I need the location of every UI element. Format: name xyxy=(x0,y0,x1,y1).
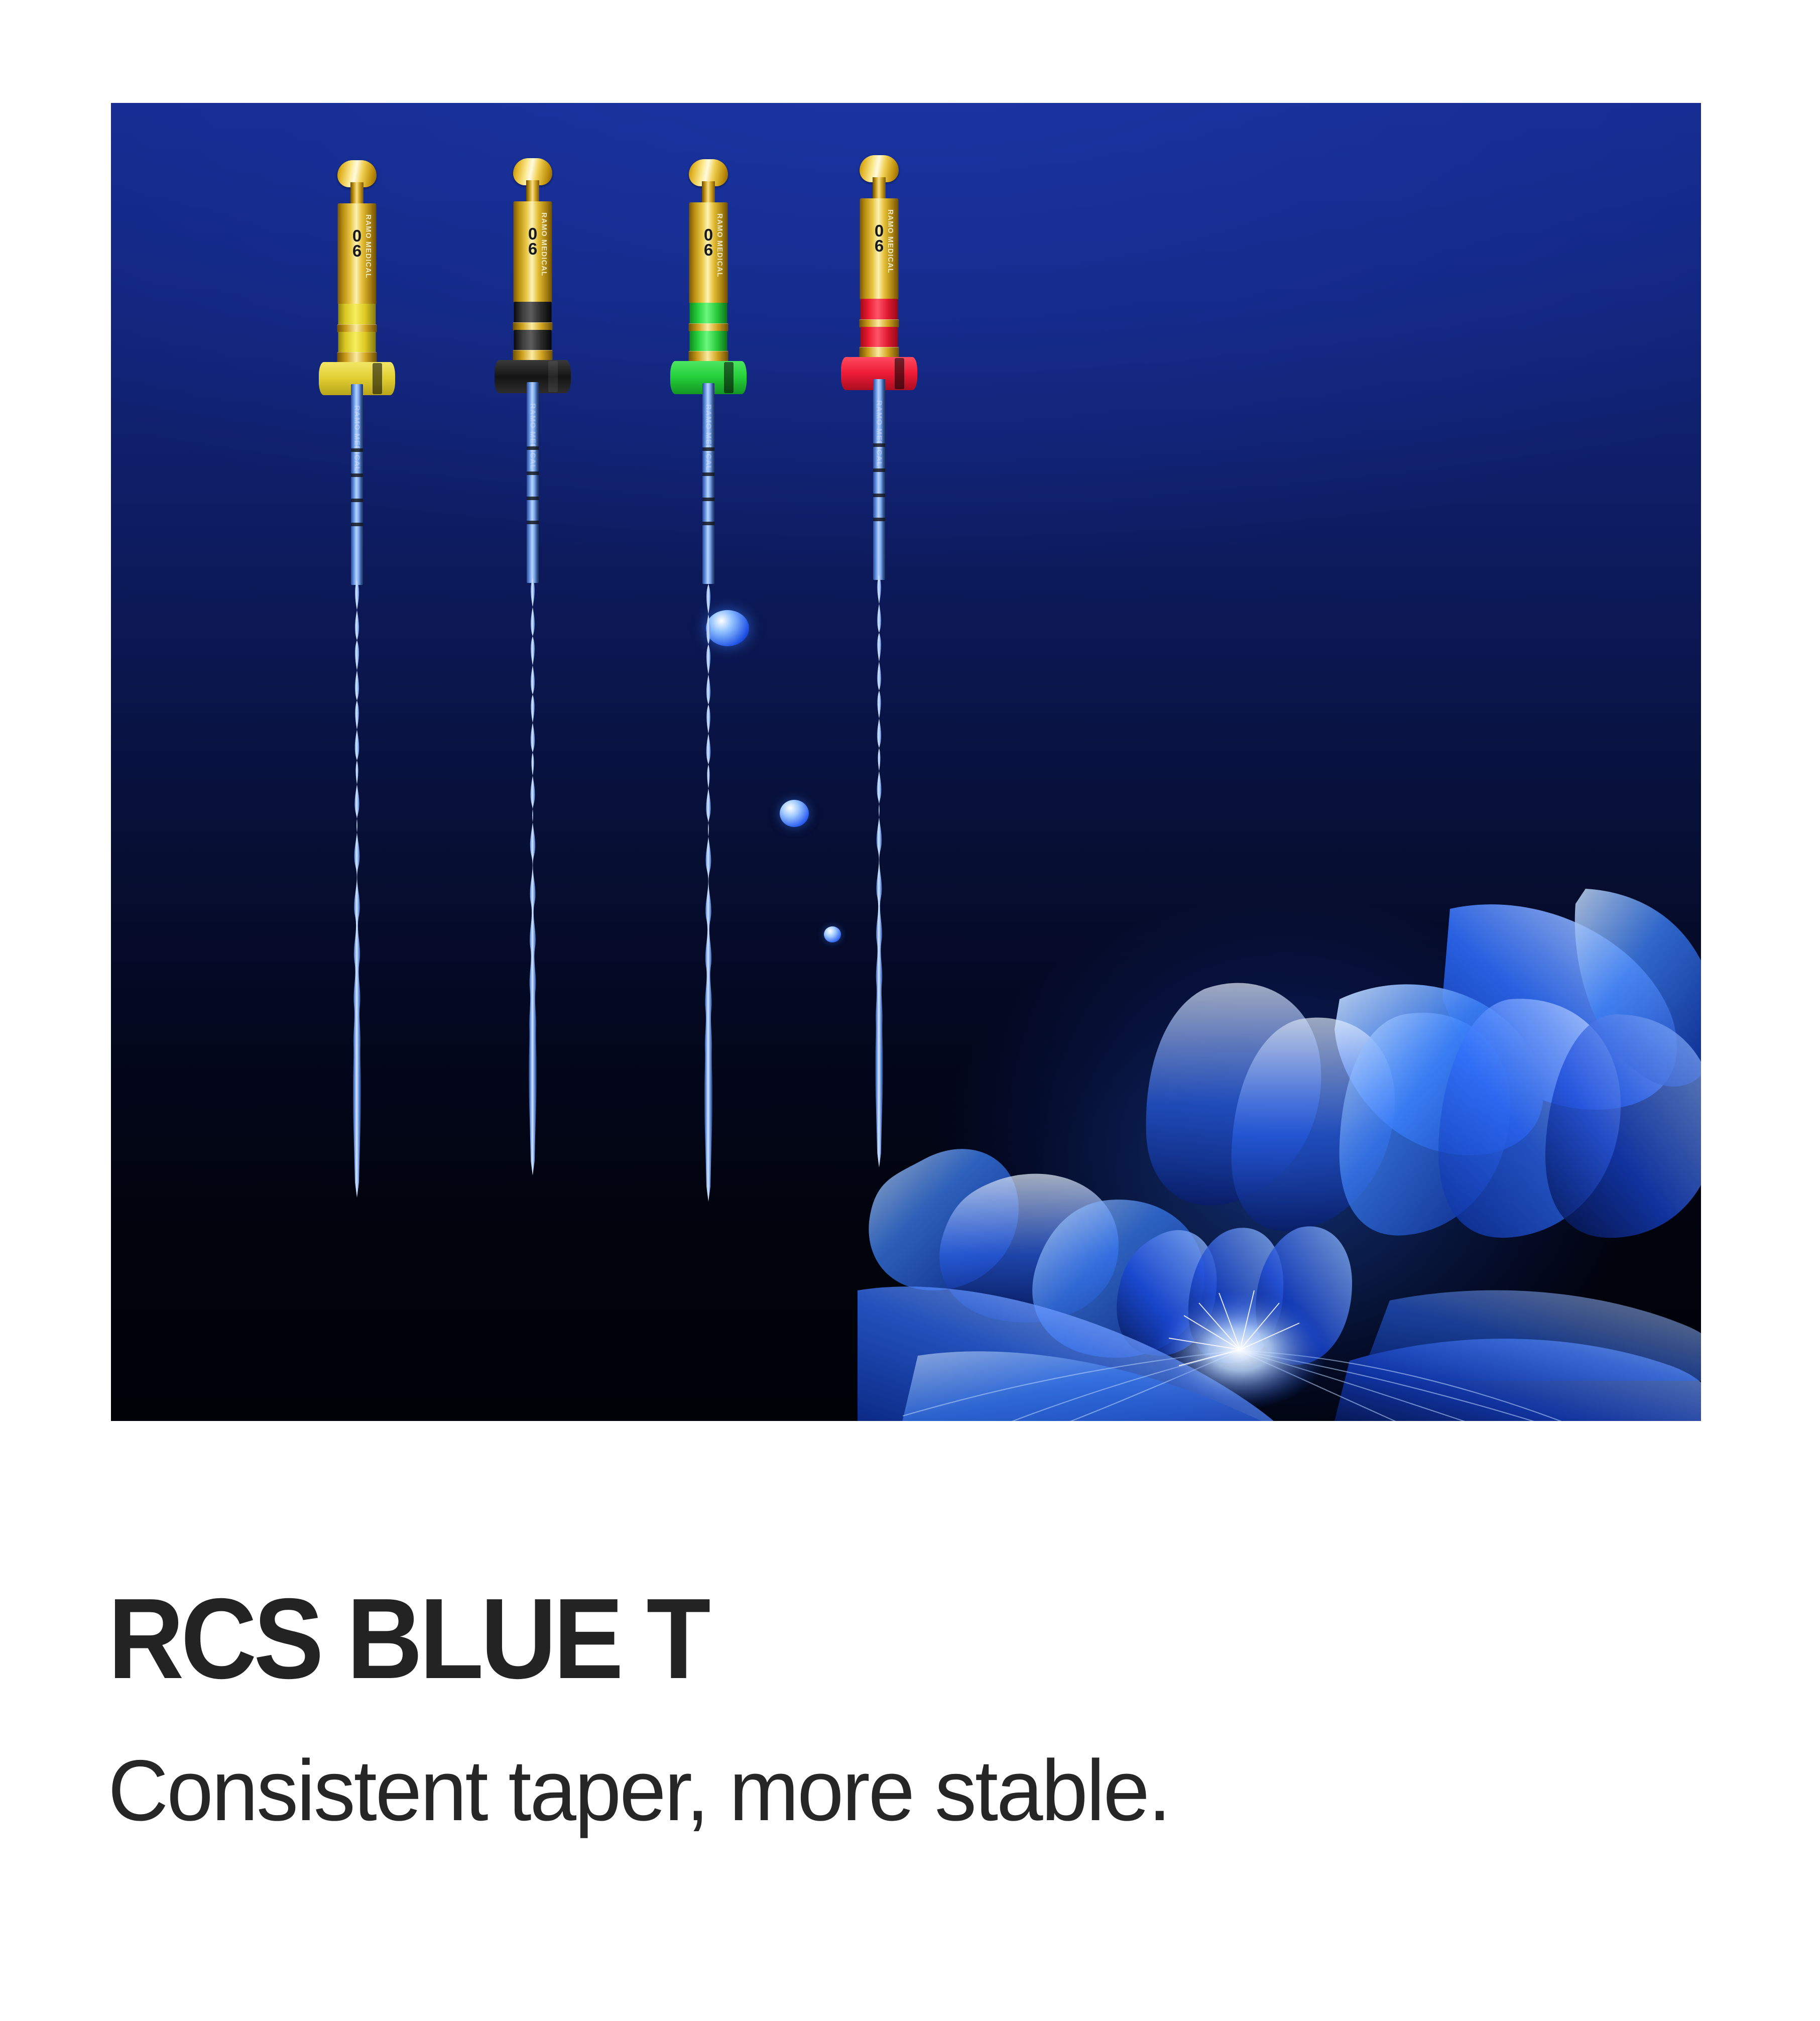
file-size-label: 0 6 xyxy=(352,228,361,259)
shaft-depth-mark xyxy=(873,468,885,472)
shaft-depth-mark xyxy=(873,518,885,521)
stop-notch xyxy=(895,358,904,389)
file-color-ring xyxy=(690,331,727,352)
file-color-ring xyxy=(514,302,552,324)
file-size-label: 0 6 xyxy=(704,227,713,258)
file-gold-ring xyxy=(337,324,377,332)
file-gold-ring xyxy=(860,347,899,358)
glass-flower xyxy=(858,849,1701,1421)
shaft-depth-mark xyxy=(351,499,363,502)
file-size-bottom: 6 xyxy=(528,242,537,257)
shaft-depth-mark xyxy=(702,498,714,501)
file-color-ring xyxy=(514,330,552,351)
file-size-bottom: 6 xyxy=(875,239,884,254)
file-flute xyxy=(518,578,548,1175)
file-gold-ring xyxy=(689,323,729,331)
file-color-ring xyxy=(690,303,727,325)
file-gold-ring xyxy=(689,351,729,362)
shaft-depth-mark xyxy=(351,523,363,526)
endo-file-3: 0 6 RAMO MEDICAL RAMO MEDICAL xyxy=(643,103,774,1421)
stop-notch xyxy=(548,361,558,392)
stop-notch xyxy=(373,363,382,394)
shaft-depth-mark xyxy=(702,522,714,525)
file-gold-ring xyxy=(513,322,553,330)
product-title: RCS BLUE T xyxy=(108,1582,1586,1696)
glass-bubble xyxy=(780,800,809,827)
file-neck xyxy=(350,182,363,206)
shaft-brand-label: RAMO MEDICAL xyxy=(875,400,884,467)
product-subtitle: Consistent taper, more stable. xyxy=(108,1747,1666,1834)
shaft-depth-mark xyxy=(873,494,885,497)
file-size-bottom: 6 xyxy=(704,243,713,258)
shaft-brand-label: RAMO MEDICAL xyxy=(353,405,361,472)
endo-file-2: 0 6 RAMO MEDICAL RAMO MEDICAL xyxy=(467,103,598,1421)
shaft-depth-mark xyxy=(702,447,714,451)
shaft-brand-label: RAMO MEDICAL xyxy=(704,404,713,471)
endo-file-1: 0 6 RAMO MEDICAL RAMO MEDICAL xyxy=(292,103,422,1421)
file-gold-ring xyxy=(860,319,899,327)
shaft-depth-mark xyxy=(351,448,363,452)
file-brand-label: RAMO MEDICAL xyxy=(715,213,723,278)
endo-file-4: 0 6 RAMO MEDICAL RAMO MEDICAL xyxy=(814,103,944,1421)
shaft-depth-mark xyxy=(351,473,363,477)
file-size-label: 0 6 xyxy=(875,223,884,254)
file-gold-ring xyxy=(513,350,553,361)
file-brand-label: RAMO MEDICAL xyxy=(886,209,894,274)
product-hero-image: 0 6 RAMO MEDICAL RAMO MEDICAL xyxy=(111,103,1701,1421)
file-neck xyxy=(526,180,539,204)
shaft-depth-mark xyxy=(527,471,539,475)
shaft-depth-mark xyxy=(873,443,885,447)
file-color-ring xyxy=(338,304,376,326)
file-flute xyxy=(864,575,894,1167)
file-neck xyxy=(702,181,715,205)
shaft-brand-label: RAMO MEDICAL xyxy=(529,403,537,470)
file-color-ring xyxy=(861,327,898,348)
file-size-label: 0 6 xyxy=(528,226,537,257)
file-flute xyxy=(342,580,372,1198)
file-neck xyxy=(873,177,886,201)
caption-block: RCS BLUE T Consistent taper, more stable… xyxy=(108,1582,1715,1834)
file-brand-label: RAMO MEDICAL xyxy=(364,214,372,279)
file-size-bottom: 6 xyxy=(352,244,361,259)
shaft-depth-mark xyxy=(527,521,539,524)
file-color-ring xyxy=(338,332,376,353)
file-flute xyxy=(693,579,723,1207)
shaft-depth-mark xyxy=(702,472,714,476)
shaft-depth-mark xyxy=(527,446,539,450)
shaft-depth-mark xyxy=(527,497,539,500)
stop-notch xyxy=(724,362,734,393)
file-color-ring xyxy=(861,299,898,321)
file-gold-ring xyxy=(337,352,377,363)
file-brand-label: RAMO MEDICAL xyxy=(540,212,548,277)
